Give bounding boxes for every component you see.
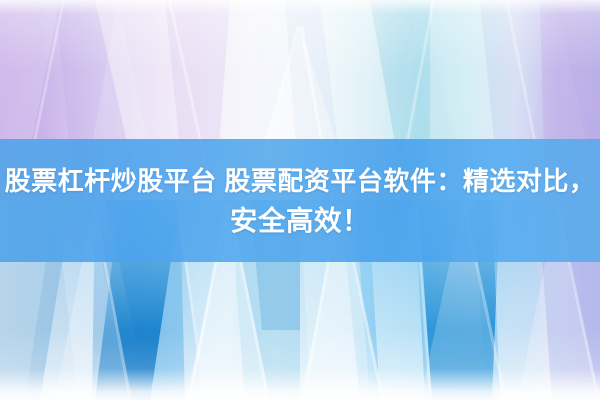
banner-title-line-2: 安全高效！ [230, 201, 370, 241]
bottom-watermark [288, 382, 314, 394]
promo-banner-image: 股票杠杆炒股平台 股票配资平台软件：精选对比， 安全高效！ [0, 0, 600, 400]
banner-title-line-1: 股票杠杆炒股平台 股票配资平台软件：精选对比， [5, 161, 596, 201]
title-banner-strip: 股票杠杆炒股平台 股票配资平台软件：精选对比， 安全高效！ [0, 139, 600, 262]
